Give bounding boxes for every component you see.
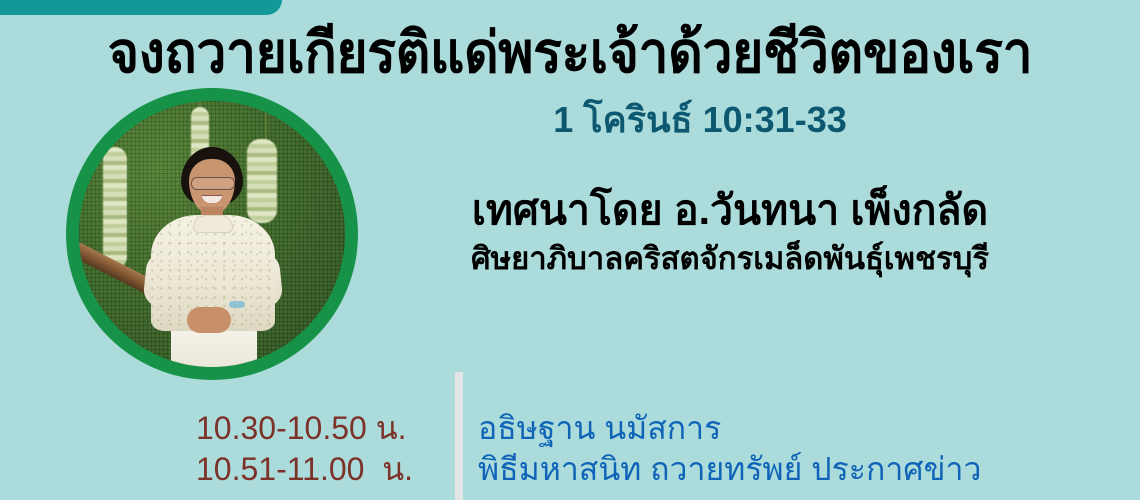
- speaker-portrait-frame: [66, 88, 358, 380]
- preacher-name: เทศนาโดย อ.วันทนา เพ็งกลัด: [380, 185, 1080, 235]
- hands-shape: [187, 307, 231, 333]
- top-accent-bar: [0, 0, 282, 15]
- glasses-icon: [191, 177, 235, 190]
- schedule-activities-column: อธิษฐาน นมัสการ พิธีมหาสนิท ถวายทรัพย์ ป…: [478, 408, 1118, 490]
- speaker-portrait-photo: [79, 101, 345, 367]
- schedule-divider: [455, 372, 463, 500]
- collar-shape: [193, 215, 233, 233]
- page-title: จงถวายเกียรติแด่พระเจ้าด้วยชีวิตของเรา: [34, 22, 1106, 84]
- speaker-figure: [79, 101, 345, 367]
- bible-verse-reference: 1 โครินธ์ 10:31-33: [380, 98, 1020, 142]
- preacher-role: ศิษยาภิบาลคริสตจักรเมล็ดพันธุ์เพชรบุรี: [380, 239, 1080, 279]
- bracelet-shape: [229, 301, 245, 308]
- sermon-announcement-poster: จงถวายเกียรติแด่พระเจ้าด้วยชีวิตของเรา 1…: [0, 0, 1140, 500]
- schedule-times-column: 10.30-10.50 น. 10.51-11.00 น.: [196, 408, 442, 490]
